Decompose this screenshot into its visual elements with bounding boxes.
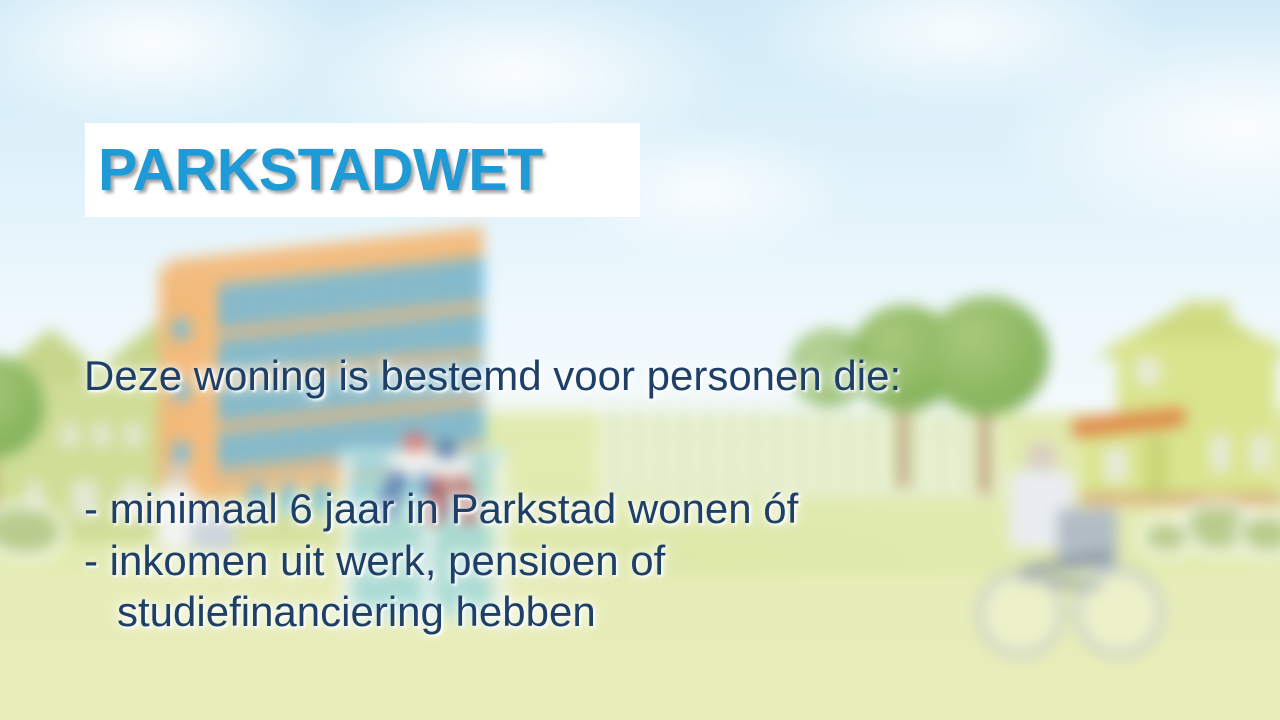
yellow-house-door <box>1147 436 1166 495</box>
yellow-house-window-1 <box>1210 434 1229 472</box>
criteria-item-2: - inkomen uit werk, pensioen of studiefi… <box>84 535 798 638</box>
criteria-list: - minimaal 6 jaar in Parkstad wonen óf -… <box>84 483 798 638</box>
office-small-window-1 <box>174 320 189 339</box>
bush-1 <box>0 508 59 553</box>
window-left-3 <box>125 424 142 447</box>
criteria-item-1-line1: - minimaal 6 jaar in Parkstad wonen óf <box>84 485 798 532</box>
office-small-window-3 <box>174 443 189 462</box>
criteria-item-2-line1: - inkomen uit werk, pensioen of <box>84 537 665 584</box>
bicycle-wheel-front <box>1075 568 1164 657</box>
page-title: PARKSTADWET <box>85 141 543 200</box>
criteria-item-2-line2: studiefinanciering hebben <box>84 586 798 638</box>
lead-sentence: Deze woning is bestemd voor personen die… <box>84 352 1184 399</box>
window-left-1 <box>61 424 78 447</box>
yellow-house-base <box>1081 495 1280 503</box>
bush-2 <box>1185 506 1251 548</box>
yellow-house-window-2 <box>1251 434 1270 472</box>
window-left-2 <box>93 424 110 447</box>
slide-canvas: PARKSTADWET Deze woning is bestemd voor … <box>0 0 1280 720</box>
yellow-house-window-3 <box>1104 447 1127 483</box>
body-text-block: Deze woning is bestemd voor personen die… <box>84 352 1184 399</box>
child-1-head <box>405 432 426 453</box>
title-box: PARKSTADWET <box>85 123 640 217</box>
bicycle-wheel-rear <box>977 570 1064 657</box>
criteria-item-1: - minimaal 6 jaar in Parkstad wonen óf <box>84 483 798 535</box>
bush-4 <box>1145 523 1187 551</box>
tree-trunk-1 <box>899 402 909 487</box>
tree-trunk-2 <box>979 402 990 493</box>
